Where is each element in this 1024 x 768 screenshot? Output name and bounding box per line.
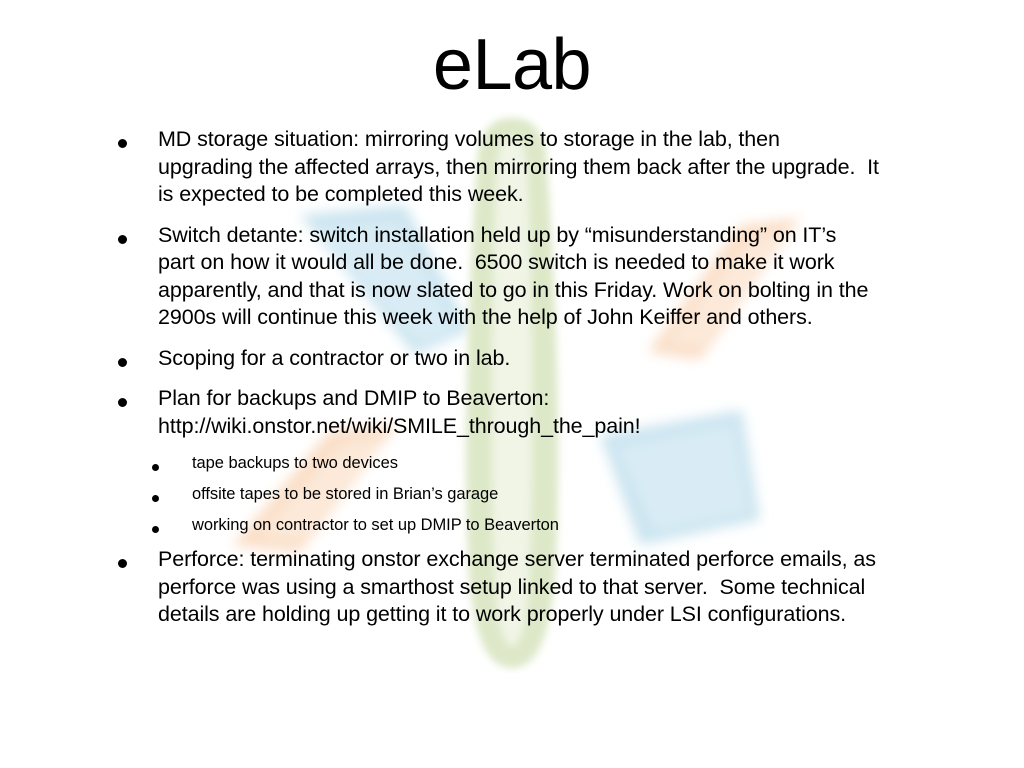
bullet-item: working on contractor to set up DMIP to …	[118, 515, 938, 536]
presentation-slide: eLab MD storage situation: mirroring vol…	[0, 0, 1024, 768]
bullet-text-line: http://wiki.onstor.net/wiki/SMILE_throug…	[158, 413, 938, 441]
bullet-item: tape backups to two devices	[118, 453, 938, 474]
bullet-dot-icon	[152, 484, 192, 504]
bullet-text: MD storage situation: mirroring volumes …	[158, 126, 938, 209]
bullet-dot-icon	[152, 453, 192, 473]
bullet-dot-icon	[118, 345, 158, 370]
bullet-text-line: working on contractor to set up DMIP to …	[192, 515, 938, 536]
bullet-text-line: 2900s will continue this week with the h…	[158, 304, 938, 332]
bullet-item: MD storage situation: mirroring volumes …	[118, 126, 938, 209]
bullet-text: tape backups to two devices	[192, 453, 938, 474]
bullet-item: offsite tapes to be stored in Brian’s ga…	[118, 484, 938, 505]
bullet-text-line: tape backups to two devices	[192, 453, 938, 474]
bullet-text-line: upgrading the affected arrays, then mirr…	[158, 154, 938, 182]
bullet-text-line: perforce was using a smarthost setup lin…	[158, 574, 938, 602]
bullet-item: Plan for backups and DMIP to Beaverton:h…	[118, 385, 938, 440]
bullet-text: Switch detante: switch installation held…	[158, 222, 938, 332]
page-title: eLab	[0, 28, 1024, 104]
bullet-text-line: MD storage situation: mirroring volumes …	[158, 126, 938, 154]
bullet-text: working on contractor to set up DMIP to …	[192, 515, 938, 536]
bullet-text-line: is expected to be completed this week.	[158, 181, 938, 209]
bullet-text: Plan for backups and DMIP to Beaverton:h…	[158, 385, 938, 440]
slide-body-bullet-list: MD storage situation: mirroring volumes …	[118, 126, 938, 642]
bullet-text-line: offsite tapes to be stored in Brian’s ga…	[192, 484, 938, 505]
bullet-item: Scoping for a contractor or two in lab.	[118, 345, 938, 373]
bullet-dot-icon	[118, 385, 158, 410]
bullet-item: Switch detante: switch installation held…	[118, 222, 938, 332]
bullet-dot-icon	[118, 222, 158, 247]
bullet-dot-icon	[118, 546, 158, 571]
bullet-text-line: Plan for backups and DMIP to Beaverton:	[158, 385, 938, 413]
bullet-text: Perforce: terminating onstor exchange se…	[158, 546, 938, 629]
bullet-dot-icon	[118, 126, 158, 151]
bullet-text-line: Perforce: terminating onstor exchange se…	[158, 546, 938, 574]
bullet-text-line: details are holding up getting it to wor…	[158, 601, 938, 629]
bullet-text: offsite tapes to be stored in Brian’s ga…	[192, 484, 938, 505]
bullet-text: Scoping for a contractor or two in lab.	[158, 345, 938, 373]
bullet-text-line: apparently, and that is now slated to go…	[158, 277, 938, 305]
bullet-item: Perforce: terminating onstor exchange se…	[118, 546, 938, 629]
bullet-text-line: Scoping for a contractor or two in lab.	[158, 345, 938, 373]
bullet-text-line: Switch detante: switch installation held…	[158, 222, 938, 250]
bullet-text-line: part on how it would all be done. 6500 s…	[158, 249, 938, 277]
bullet-dot-icon	[152, 515, 192, 535]
